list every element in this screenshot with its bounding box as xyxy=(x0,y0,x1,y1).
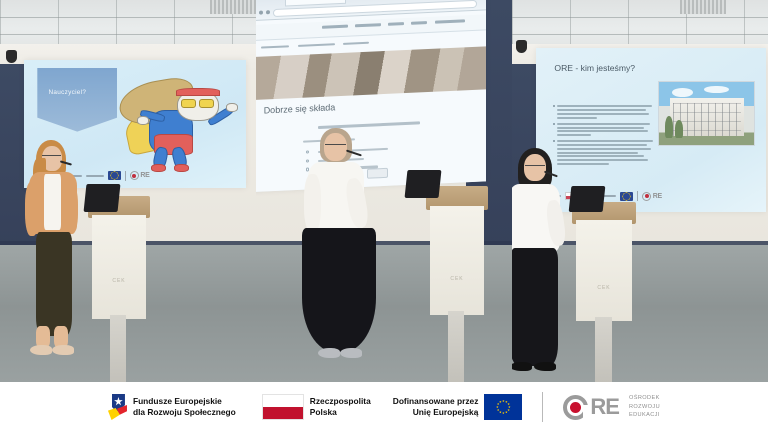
collage-panel-center: Dobrze się składa xyxy=(256,0,512,382)
ore-building-photo xyxy=(658,81,755,147)
cofunded-line2: Unię Europejską xyxy=(393,407,479,418)
republic-line2: Polska xyxy=(310,407,371,418)
eu-funding-footer: Fundusze Europejskie dla Rozwoju Społecz… xyxy=(0,382,768,432)
funds-europe-text: Fundusze Europejskie dla Rozwoju Społecz… xyxy=(133,396,236,418)
ore-line3: Edukacji xyxy=(629,411,660,420)
speaker-center xyxy=(304,128,384,382)
slide-title-banner: Nauczyciel? xyxy=(37,68,117,132)
nav-item[interactable] xyxy=(411,22,427,25)
speaker-left xyxy=(20,140,90,382)
cofunded-text: Dofinansowane przez Unię Europejską xyxy=(393,396,479,418)
photo-collage: Nauczyciel? xyxy=(0,0,768,382)
ceiling xyxy=(512,0,768,48)
podium-left: CEK xyxy=(88,196,150,382)
screenshot-root: Nauczyciel? xyxy=(0,0,768,432)
speaker-right xyxy=(512,148,582,382)
security-camera-icon xyxy=(6,50,17,63)
slide-title-center: Dobrze się składa xyxy=(264,102,336,115)
nav-item[interactable] xyxy=(355,24,381,28)
podium-center: CEK xyxy=(426,186,488,382)
ore-line2: Rozwoju xyxy=(629,403,660,412)
laptop-center xyxy=(405,170,442,198)
republic-line1: Rzeczpospolita xyxy=(310,396,371,407)
eu-flag-icon xyxy=(484,394,522,420)
list-item xyxy=(557,105,658,118)
nav-item[interactable] xyxy=(388,23,404,26)
footer-divider xyxy=(542,392,543,422)
funds-europe-logo: Fundusze Europejskie dla Rozwoju Społecz… xyxy=(108,394,236,420)
superhero-teacher-icon xyxy=(119,75,234,167)
ore-wordmark: RE xyxy=(590,396,619,418)
nav-item[interactable] xyxy=(435,20,465,24)
cofunded-eu-logo: Dofinansowane przez Unię Europejską xyxy=(393,394,523,420)
nav-item[interactable] xyxy=(322,25,348,29)
slide-title-left: Nauczyciel? xyxy=(48,89,86,96)
ceiling-vent xyxy=(680,0,726,14)
funds-europe-line2: dla Rozwoju Społecznego xyxy=(133,407,236,418)
ceiling-vent xyxy=(210,0,256,14)
ore-logo: RE Ośrodek Rozwoju Edukacji xyxy=(563,394,660,420)
podium-label-left: CEK xyxy=(88,278,150,284)
podium-label-center: CEK xyxy=(426,276,488,282)
cofunded-line1: Dofinansowane przez xyxy=(393,396,479,407)
collage-panel-right: ORE - kim jesteśmy? xyxy=(512,0,768,382)
poland-flag-icon xyxy=(262,394,304,420)
page-hero-image xyxy=(256,46,486,100)
funds-europe-line1: Fundusze Europejskie xyxy=(133,396,236,407)
ore-line1: Ośrodek xyxy=(629,394,660,403)
security-camera-icon xyxy=(516,40,527,53)
list-item xyxy=(557,123,658,136)
funds-europe-flag-icon xyxy=(108,394,127,420)
slide-title-right: ORE - kim jesteśmy? xyxy=(554,63,635,75)
slide-ore-wordmark: RE xyxy=(653,193,662,200)
republic-poland-logo: Rzeczpospolita Polska xyxy=(262,394,371,420)
ore-circle-icon xyxy=(563,395,588,420)
ore-subtitle: Ośrodek Rozwoju Edukacji xyxy=(629,394,660,420)
collage-panel-left: Nauczyciel? xyxy=(0,0,256,382)
republic-poland-text: Rzeczpospolita Polska xyxy=(310,396,371,418)
slide-ore-wordmark: RE xyxy=(140,172,149,179)
